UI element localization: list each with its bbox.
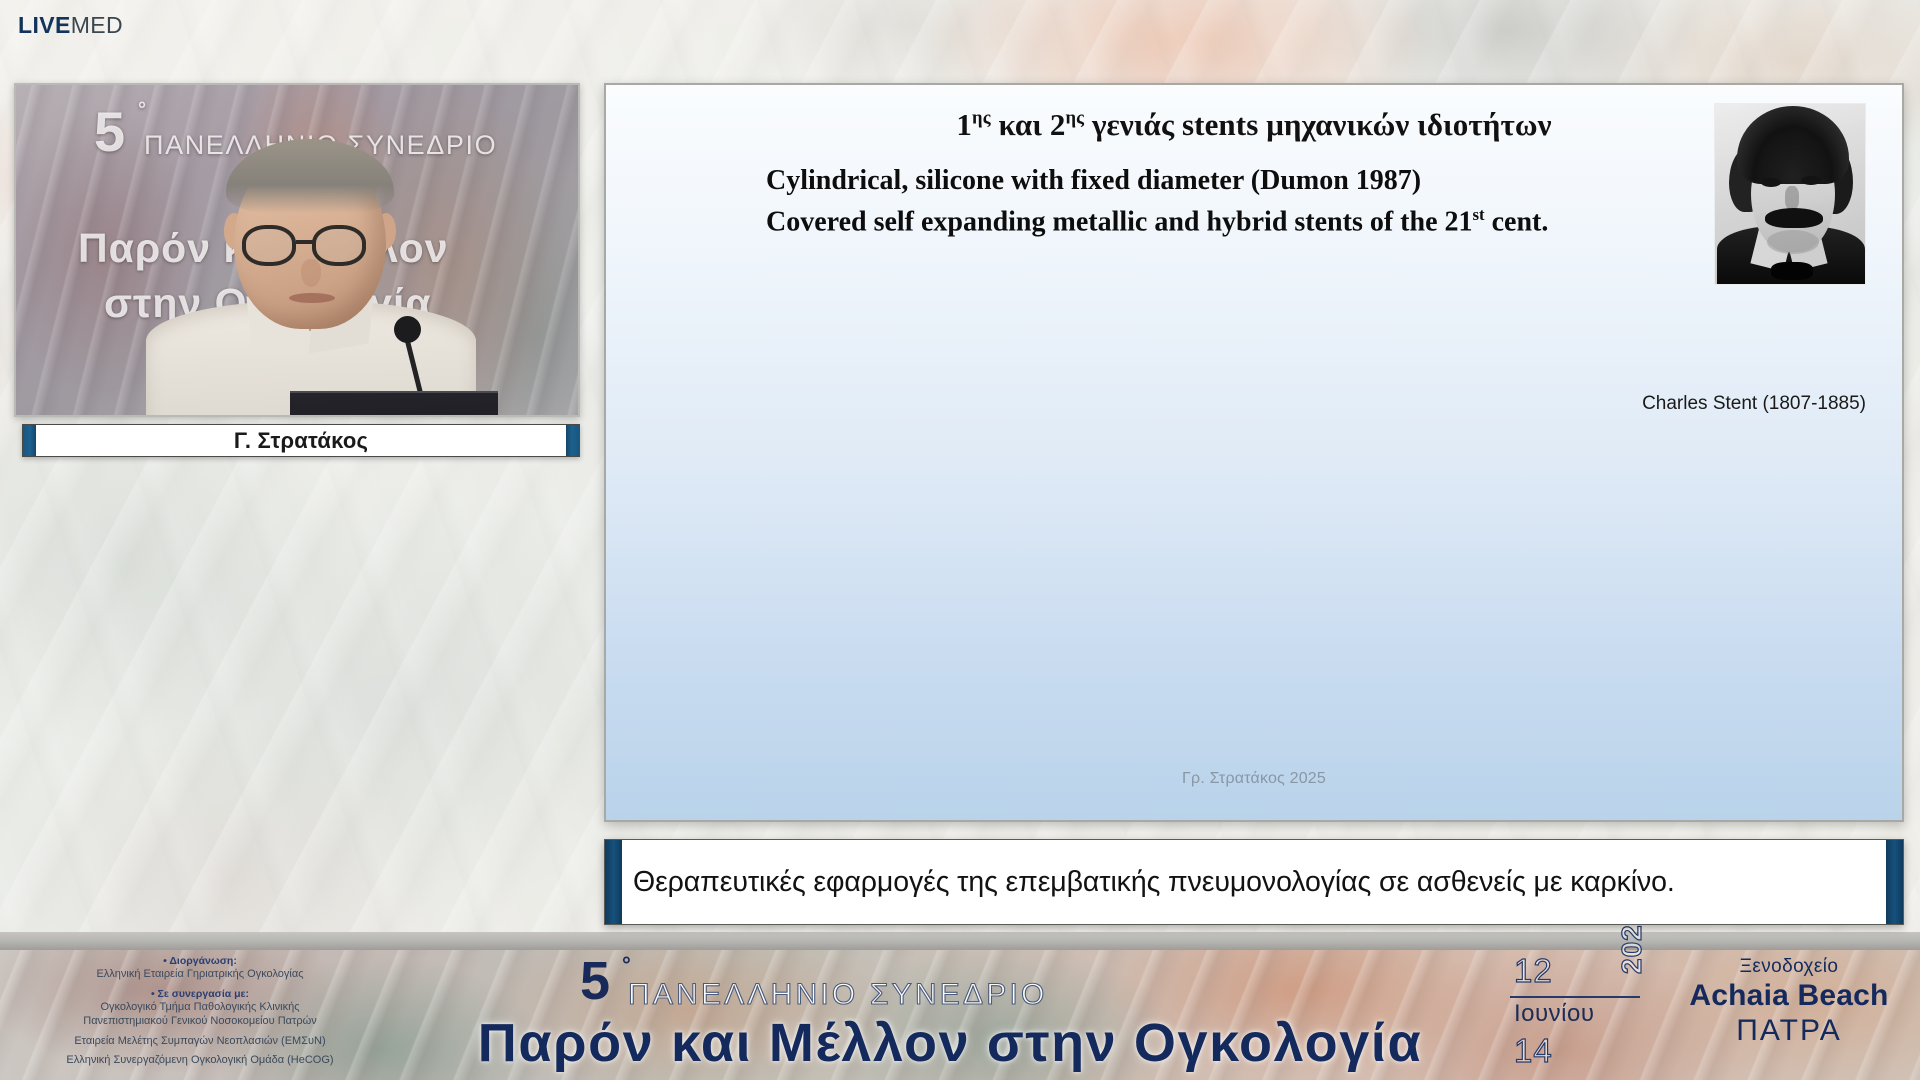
presenter-nose — [301, 259, 321, 287]
speaker-name-bar: Γ. Στρατάκος — [22, 424, 580, 457]
slide-body-line-1: Cylindrical, silicone with fixed diamete… — [766, 165, 1421, 197]
slide-title-sup1: ης — [972, 108, 991, 129]
footer-organizer-name: Ελληνική Εταιρεία Γηριατρικής Ογκολογίας — [0, 967, 400, 982]
footer-organizers-block: • Διοργάνωση: Ελληνική Εταιρεία Γηριατρι… — [0, 952, 400, 1080]
slide-title-prefix: 1 — [956, 107, 972, 142]
presenter-hair — [226, 139, 394, 213]
footer-collaborator-4: Ελληνική Συνεργαζόμενη Ογκολογική Ομάδα … — [0, 1053, 400, 1068]
footer-venue-name: Achaia Beach — [1660, 979, 1918, 1013]
laptop-screen — [290, 391, 498, 417]
footer-venue-city: ΠΑΤΡΑ — [1660, 1014, 1918, 1048]
footer-congress-number: 5 — [580, 954, 610, 1008]
footer-congress-degree: ° — [622, 952, 631, 978]
portrait-bowtie — [1771, 262, 1813, 280]
presenter-glasses-right-lens — [312, 225, 366, 266]
logo-med-text: MED — [71, 12, 123, 38]
slide-body-line-2: Covered self expanding metallic and hybr… — [766, 205, 1548, 238]
slide-line2-sup: st — [1473, 205, 1485, 224]
footer-congress-title: Παρόν και Μέλλον στην Ογκολογία — [400, 1012, 1500, 1074]
charles-stent-portrait — [1714, 103, 1866, 285]
footer-congress-title-block: 5 ° ΠΑΝΕΛΛΗΝΙΟ ΣΥΝΕΔΡΙΟ Παρόν και Μέλλον… — [400, 950, 1500, 1080]
presenter-glasses-bridge — [296, 240, 314, 244]
slide-watermark: Γρ. Στρατάκος 2025 — [606, 770, 1902, 788]
portrait-caption: Charles Stent (1807-1885) — [1642, 393, 1866, 415]
footer-date-divider — [1510, 996, 1640, 998]
footer-date-block: 12 Ιουνίου 14 2025 — [1508, 952, 1658, 1080]
livemed-logo[interactable]: LIVEMED — [18, 14, 123, 37]
presentation-slide[interactable]: 1ης και 2ης γενιάς stents μηχανικών ιδιο… — [604, 83, 1904, 822]
logo-live-text: LIVE — [18, 12, 71, 38]
presenter-glasses-left-lens — [242, 225, 296, 266]
speaker-video-panel[interactable]: 5 ° ΠΑΝΕΛΛΗΝΙΟ ΣΥΝΕΔΡΙΟ Παρόν και Μέλλον… — [14, 83, 580, 417]
session-title-text: Θεραπευτικές εφαρμογές της επεμβατικής π… — [605, 866, 1675, 899]
slide-title-sup2: ης — [1065, 108, 1084, 129]
slide-title-rest: γενιάς stents μηχανικών ιδιοτήτων — [1084, 107, 1551, 142]
footer-date-month: Ιουνίου — [1514, 1000, 1594, 1028]
speaker-name-label: Γ. Στρατάκος — [234, 428, 368, 454]
footer-collaborator-2: Πανεπιστημιακού Γενικού Νοσοκομείου Πατρ… — [0, 1014, 400, 1029]
presenter-figure — [146, 141, 476, 417]
footer-venue-block: Ξενοδοχείο Achaia Beach ΠΑΤΡΑ — [1660, 952, 1918, 1080]
portrait-moustache — [1765, 208, 1823, 228]
footer-collaboration-heading: • Σε συνεργασία με: — [0, 988, 400, 1000]
slide-title-mid: και 2 — [991, 107, 1066, 142]
portrait-chin — [1767, 230, 1819, 254]
footer-collaborator-3: Εταιρεία Μελέτης Συμπαγών Νεοπλασιών (ΕΜ… — [0, 1034, 400, 1049]
footer-collaborator-1: Ογκολογικό Τμήμα Παθολογικής Κλινικής — [0, 1000, 400, 1015]
footer-organizer-heading: • Διοργάνωση: — [0, 955, 400, 967]
footer-venue-label: Ξενοδοχείο — [1660, 956, 1918, 978]
session-title-bar: Θεραπευτικές εφαρμογές της επεμβατικής π… — [604, 839, 1904, 925]
slide-line2-pre: Covered self expanding metallic and hybr… — [766, 206, 1473, 237]
footer-date-day-from: 12 — [1514, 952, 1553, 990]
footer-date-day-to: 14 — [1514, 1032, 1553, 1070]
microphone-icon — [394, 316, 421, 343]
presenter-mouth — [289, 293, 335, 303]
slide-title: 1ης και 2ης γενιάς stents μηχανικών ιδιο… — [606, 107, 1902, 143]
portrait-eye-right — [1801, 176, 1821, 185]
portrait-nose — [1785, 186, 1799, 210]
portrait-eye-left — [1761, 178, 1781, 187]
footer-congress-subtitle: ΠΑΝΕΛΛΗΝΙΟ ΣΥΝΕΔΡΙΟ — [628, 978, 1048, 1012]
slide-line2-post: cent. — [1485, 206, 1549, 237]
